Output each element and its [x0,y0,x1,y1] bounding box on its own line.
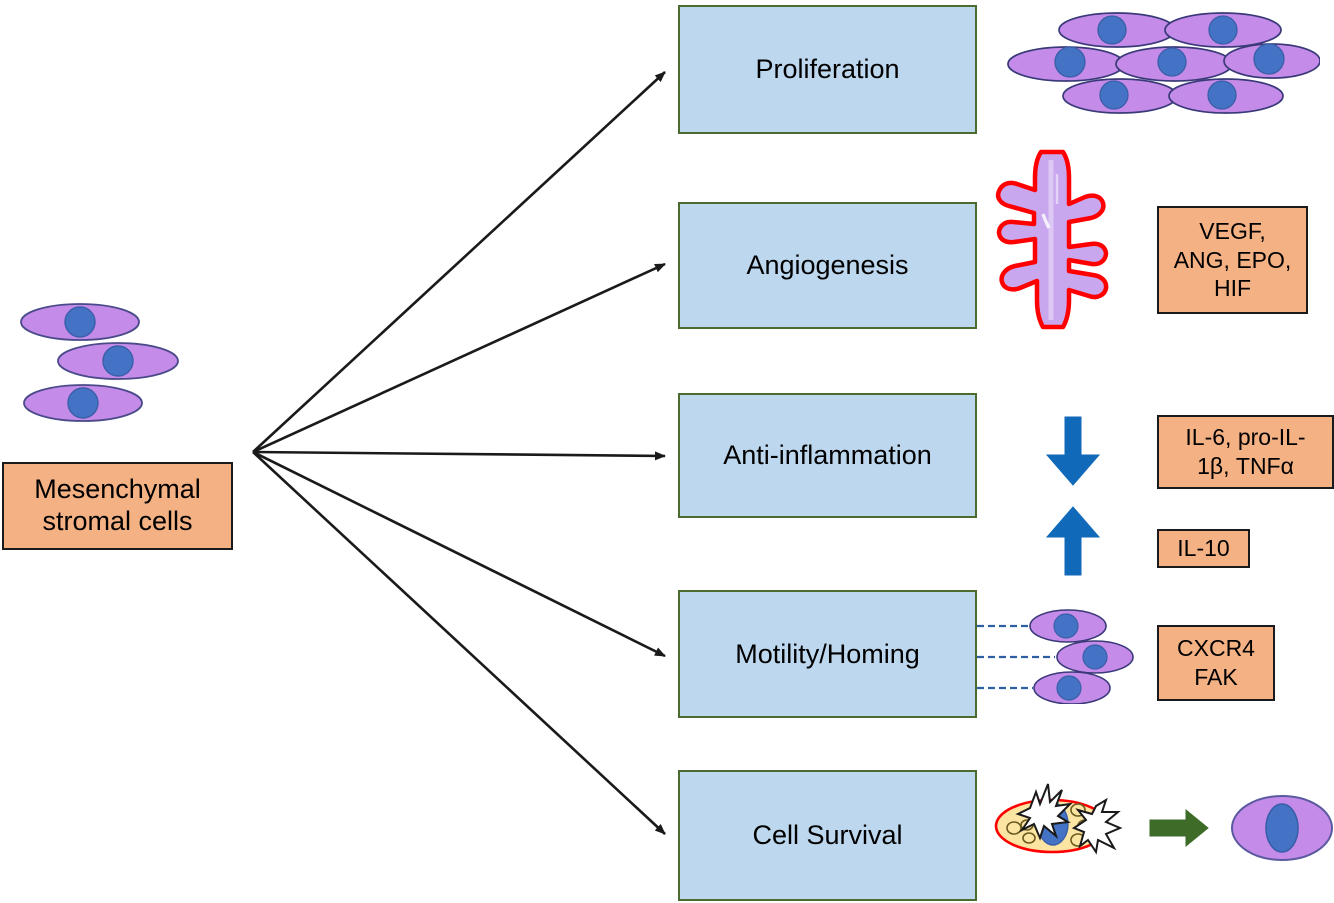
process-box-label: Proliferation [755,54,899,85]
msc-cell-3 [24,385,142,421]
radiating-arrows [253,72,665,834]
molecule-label-line3: HIF [1214,275,1251,301]
source-box-mesenchymal-stromal-cells[interactable]: Mesenchymal stromal cells [2,462,233,550]
cell-survival-illustration [990,778,1334,878]
proliferating-cell [1169,79,1283,113]
proliferating-cell [1063,79,1177,113]
molecule-label-line2: 1β, TNFα [1197,453,1294,479]
branching-blood-vessel [993,144,1133,334]
proliferating-cell [1059,13,1175,47]
molecule-box-pro-inflammatory-cytokines[interactable]: IL-6, pro-IL- 1β, TNFα [1157,415,1334,489]
process-box-motility-homing[interactable]: Motility/Homing [678,590,977,718]
molecule-label-line2: FAK [1194,664,1237,690]
migrating-cell [1057,641,1133,673]
source-box-label-line1: Mesenchymal [34,474,201,504]
proliferating-cell [1165,13,1281,47]
process-box-cell-survival[interactable]: Cell Survival [678,770,977,901]
proliferating-cell [1116,47,1232,81]
mesenchymal-stromal-cells-illustration [18,300,208,435]
diagram-canvas: Mesenchymal stromal cells Proliferation … [0,0,1334,903]
proliferating-cell-row-bottom [1063,79,1283,113]
migrating-cell [1030,610,1106,642]
survival-arrow-icon [1150,810,1208,846]
molecule-box-label: IL-10 [1177,534,1229,563]
molecule-box-anti-inflammatory-cytokine[interactable]: IL-10 [1157,529,1250,568]
healthy-cell [1232,796,1332,860]
increase-arrow-icon [1043,505,1103,577]
process-box-anti-inflammation[interactable]: Anti-inflammation [678,393,977,518]
molecule-label-line2: ANG, EPO, [1174,247,1292,273]
molecule-box-label: VEGF, ANG, EPO, HIF [1174,217,1292,303]
arrow-to-proliferation [253,72,665,452]
arrow-to-anti-inflammation [253,452,665,456]
source-box-label-line2: stromal cells [42,506,192,536]
molecule-box-label: CXCR4 FAK [1177,634,1255,691]
proliferating-cell-cluster [1004,6,1320,126]
proliferating-cell-row-top [1059,13,1281,47]
molecule-box-angiogenic-factors[interactable]: VEGF, ANG, EPO, HIF [1157,206,1308,314]
proliferating-cell [1008,47,1124,81]
migrating-cell [1034,672,1110,704]
process-box-label: Angiogenesis [746,250,908,281]
migrating-cells [977,608,1137,704]
arrow-to-angiogenesis [253,264,665,452]
molecule-label-line1: IL-6, pro-IL- [1185,424,1305,450]
molecule-box-label: IL-6, pro-IL- 1β, TNFα [1185,423,1305,480]
arrow-to-motility-homing [253,452,665,656]
molecule-label-line1: CXCR4 [1177,635,1255,661]
process-box-label: Motility/Homing [735,639,920,670]
process-box-label: Anti-inflammation [723,440,932,471]
process-box-angiogenesis[interactable]: Angiogenesis [678,202,977,329]
proliferating-cell [1224,44,1320,78]
molecule-box-homing-receptors[interactable]: CXCR4 FAK [1157,625,1275,701]
proliferating-cell-row-middle [1008,44,1320,81]
source-box-label: Mesenchymal stromal cells [34,474,201,538]
arrow-to-cell-survival [253,452,665,834]
msc-cell-2 [58,343,178,379]
vessel-shape [998,152,1106,327]
msc-cell-1 [21,304,139,340]
process-box-proliferation[interactable]: Proliferation [678,5,977,134]
stressed-apoptotic-cell [996,784,1120,852]
process-box-label: Cell Survival [752,820,902,851]
decrease-arrow-icon [1043,415,1103,487]
connector-layer [0,0,1334,903]
molecule-label-line1: VEGF, [1199,218,1265,244]
